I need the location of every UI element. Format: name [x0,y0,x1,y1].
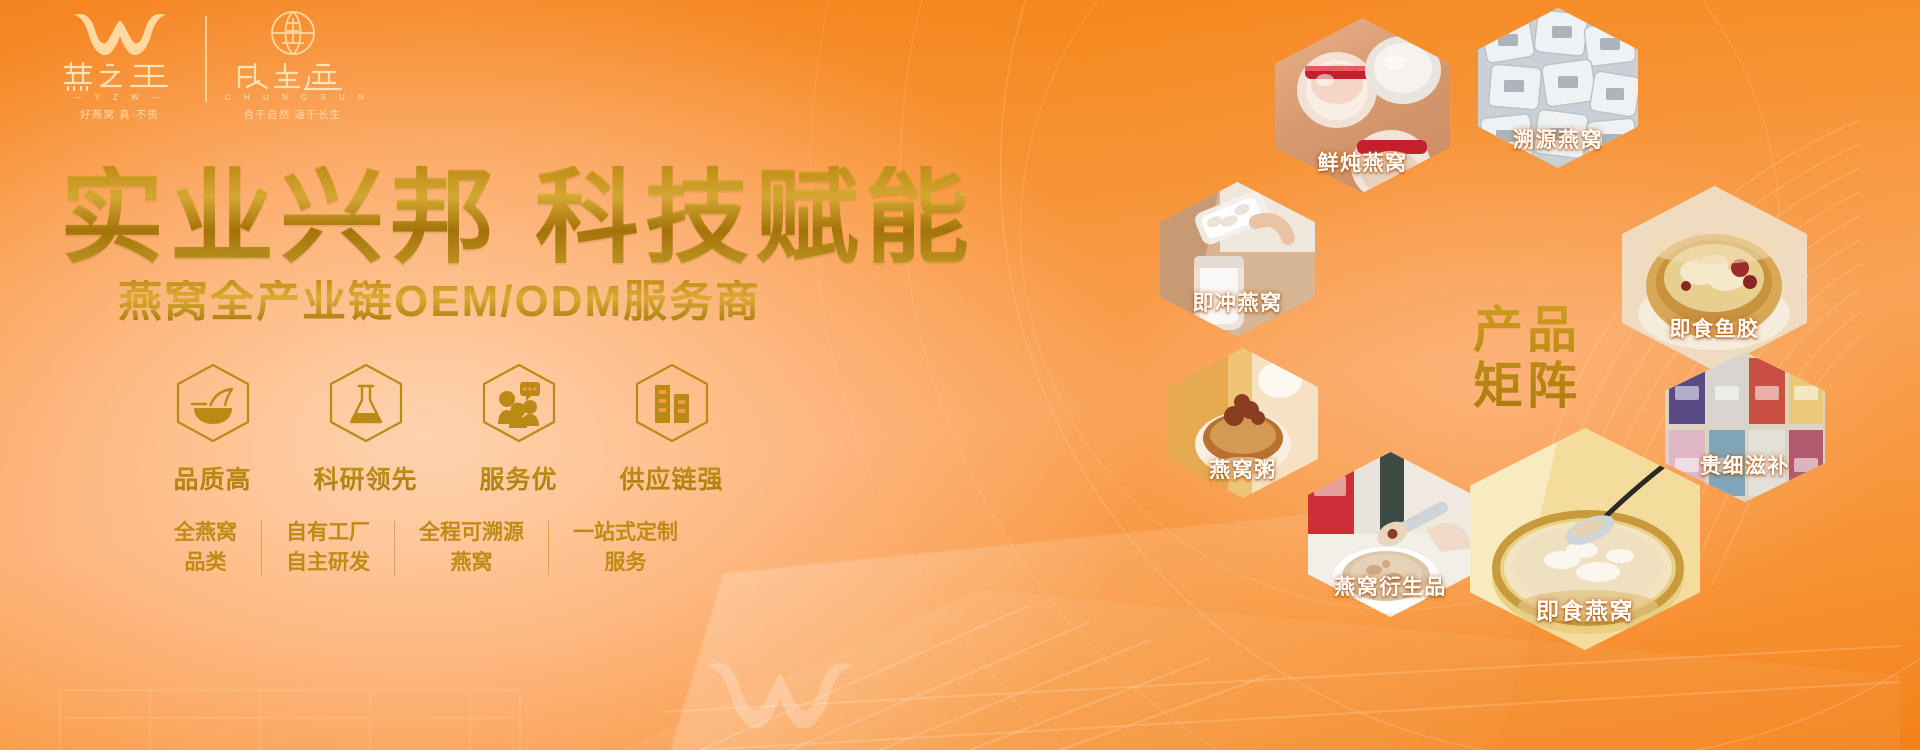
logo-yzw-slogan: 好燕窝 真·不贵 [52,107,187,122]
feature-item-supplychain: 供应链强 [595,360,748,496]
logo-yzw-pinyin: — Y Z W — [52,93,187,102]
product-label: 燕窝粥 [1168,454,1318,484]
feature-label: 科研领先 [289,460,442,496]
logo-yzw-name [52,61,187,91]
tag-item: 自有工厂 自主研发 [262,518,394,579]
tag-line2: 燕窝 [419,548,524,578]
feature-label: 品质高 [136,460,289,496]
feature-item-research: 科研领先 [289,360,442,496]
matrix-title-line1: 产品 [1432,302,1622,358]
tag-line1: 全燕窝 [174,518,237,548]
logo-chungsun-pinyin: C H U N G S U N [225,93,360,102]
service-people-icon [442,360,595,446]
product-label: 即冲燕窝 [1160,287,1315,317]
product-tile-jishi-yanwo[interactable]: 即食燕窝 [1470,428,1700,650]
tag-item: 全程可溯源 燕窝 [395,518,548,579]
feature-label: 服务优 [442,460,595,496]
tag-line2: 自主研发 [286,548,370,578]
tag-line2: 品类 [174,548,237,578]
logo-chungsun-slogan: 合于自然 道于长生 [225,107,360,122]
product-label: 即食鱼胶 [1622,313,1807,343]
tag-line1: 全程可溯源 [419,518,524,548]
product-tile-jishi-yujiao[interactable]: 即食鱼胶 [1622,186,1807,371]
product-image [1622,186,1807,371]
feature-item-quality: 品质高 [136,360,289,496]
watermark-logo-icon [700,652,860,742]
product-matrix-title: 产品 矩阵 [1432,302,1622,414]
product-tile-jichong[interactable]: 即冲燕窝 [1160,182,1315,337]
factory-building-icon [595,360,748,446]
flask-icon [289,360,442,446]
feature-label: 供应链强 [595,460,748,496]
tag-item: 全燕窝 品类 [150,518,261,579]
tag-list: 全燕窝 品类 自有工厂 自主研发 全程可溯源 燕窝 一站式定制 服务 [150,518,702,579]
product-label: 溯源燕窝 [1478,124,1638,154]
feature-item-service: 服务优 [442,360,595,496]
tag-line2: 服务 [573,548,678,578]
chungsun-seal-icon [225,8,360,60]
headline: 实业兴邦 科技赋能 [60,166,975,270]
product-tile-suyuan[interactable]: 溯源燕窝 [1478,8,1638,168]
subheadline: 燕窝全产业链OEM/ODM服务商 [118,280,761,324]
product-tile-yanwozhou[interactable]: 燕窝粥 [1168,348,1318,498]
logo-chungsun-name [225,61,360,91]
logo-chungsun: C H U N G S U N 合于自然 道于长生 [225,8,360,122]
tag-line1: 自有工厂 [286,518,370,548]
bird-nest-icon [136,360,289,446]
yzw-wave-logo-icon [52,8,187,60]
product-label: 鲜炖燕窝 [1275,147,1450,177]
logo-yanzhiwang: — Y Z W — 好燕窝 真·不贵 [52,8,187,122]
product-tile-xiandun[interactable]: 鲜炖燕窝 [1275,18,1450,193]
brand-logos: — Y Z W — 好燕窝 真·不贵 [52,8,360,122]
promotional-banner: — Y Z W — 好燕窝 真·不贵 [0,0,1920,750]
product-tile-yansheng-pin[interactable]: 燕窝衍生品 [1308,452,1473,617]
product-label: 燕窝衍生品 [1308,571,1473,601]
product-label: 即食燕窝 [1470,592,1700,626]
logo-divider [205,16,207,102]
tag-item: 一站式定制 服务 [549,518,702,579]
tag-line1: 一站式定制 [573,518,678,548]
feature-list: 品质高 科研领先 [136,360,748,496]
matrix-title-line2: 矩阵 [1432,358,1622,414]
